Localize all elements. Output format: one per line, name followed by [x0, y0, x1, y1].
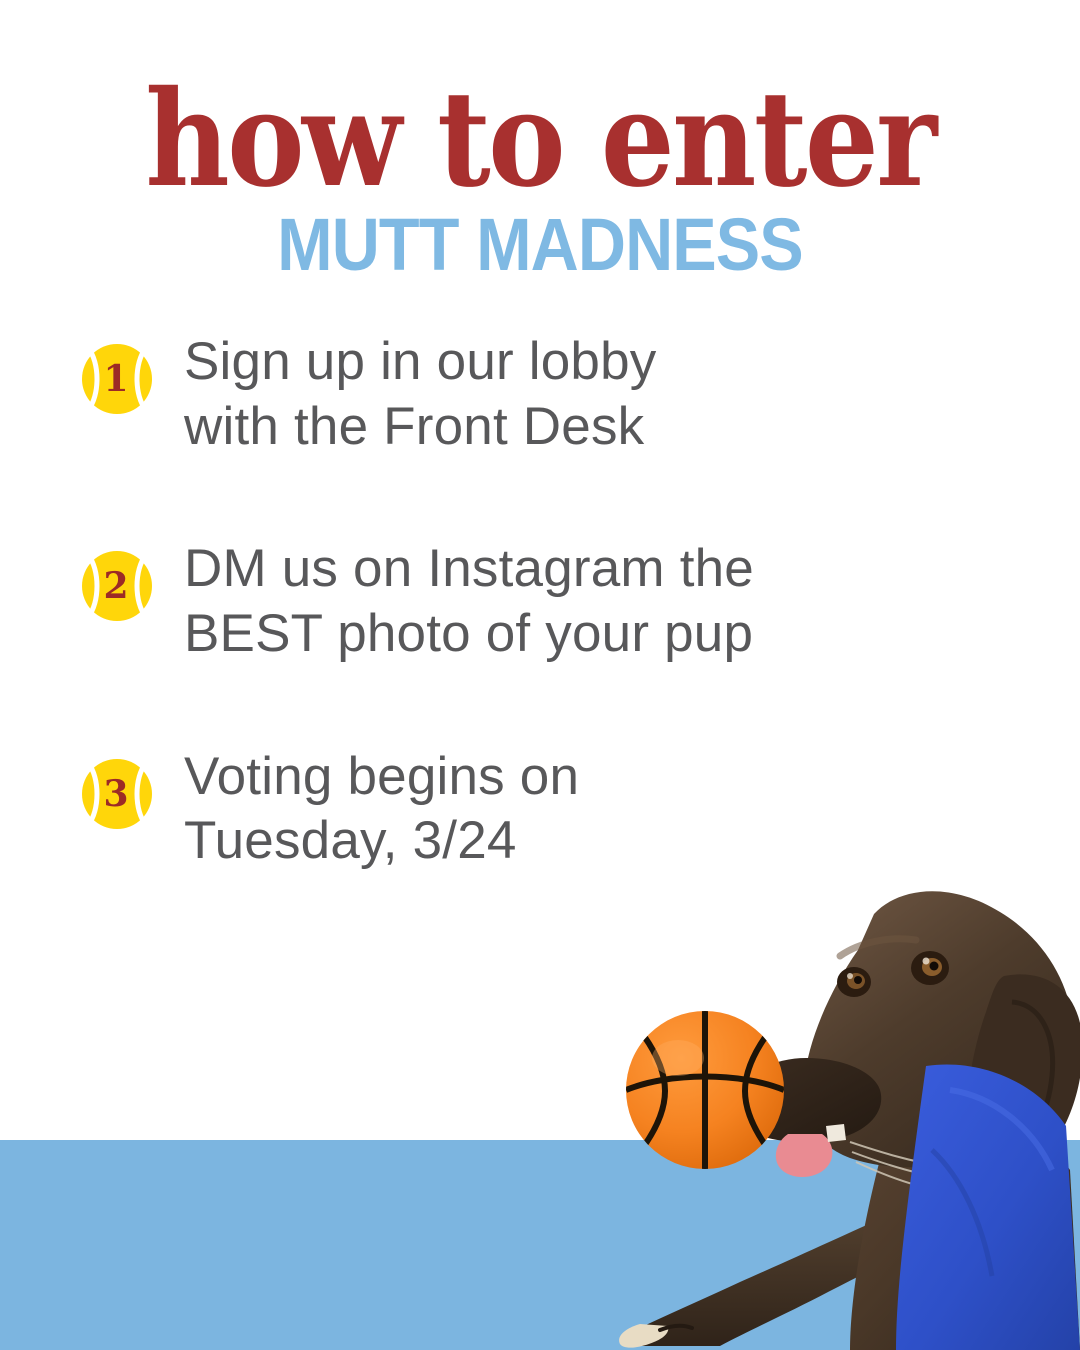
headline-block: how to enter MUTT MADNESS: [0, 78, 1080, 282]
tennis-ball-icon: 1: [78, 340, 156, 418]
tennis-ball-icon: 2: [78, 547, 156, 625]
step-text: DM us on Instagram the BEST photo of you…: [184, 537, 754, 666]
basketball-toy: [626, 1011, 784, 1169]
step-number: 2: [78, 547, 156, 625]
step-number: 1: [78, 340, 156, 418]
poster-canvas: how to enter MUTT MADNESS: [0, 0, 1080, 1350]
list-item: 1 Sign up in our lobby with the Front De…: [78, 330, 838, 459]
step-text: Voting begins on Tuesday, 3/24: [184, 745, 579, 874]
step-text: Sign up in our lobby with the Front Desk: [184, 330, 657, 459]
steps-list: 1 Sign up in our lobby with the Front De…: [78, 330, 838, 874]
step-number: 3: [78, 755, 156, 833]
page-subtitle: MUTT MADNESS: [54, 208, 1026, 282]
list-item: 2 DM us on Instagram the BEST photo of y…: [78, 537, 838, 666]
dog-photo: [600, 790, 1080, 1350]
tennis-ball-icon: 3: [78, 755, 156, 833]
page-title: how to enter: [65, 78, 1015, 202]
list-item: 3 Voting begins on Tuesday, 3/24: [78, 745, 838, 874]
